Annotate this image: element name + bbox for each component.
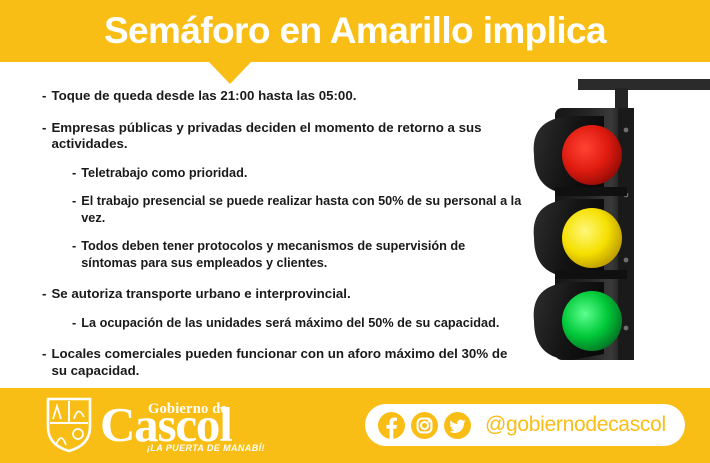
bullet-item: -La ocupación de las unidades será máxim… bbox=[72, 315, 522, 332]
red-lamp bbox=[562, 125, 622, 185]
yellow-lamp bbox=[562, 208, 622, 268]
instagram-icon[interactable] bbox=[411, 412, 438, 439]
housing-divider bbox=[555, 187, 627, 196]
bullet-text: Toque de queda desde las 21:00 hasta las… bbox=[51, 88, 522, 105]
bullet-dash: - bbox=[42, 88, 51, 105]
header-pointer-triangle bbox=[209, 62, 251, 84]
social-media-pill[interactable]: @gobiernodecascol bbox=[365, 404, 685, 446]
facebook-icon[interactable] bbox=[378, 412, 405, 439]
wordmark-sub: Gobierno de bbox=[148, 401, 227, 418]
bullet-text: El trabajo presencial se puede realizar … bbox=[81, 193, 522, 226]
bullet-dash: - bbox=[42, 286, 51, 303]
bullet-item: -Se autoriza transporte urbano e interpr… bbox=[42, 286, 522, 303]
bullet-item: -Teletrabajo como prioridad. bbox=[72, 165, 522, 182]
bullet-item: -Empresas públicas y privadas deciden el… bbox=[42, 120, 522, 153]
bolt-icon bbox=[624, 326, 629, 331]
bullet-dash: - bbox=[72, 165, 81, 182]
bullet-text: Empresas públicas y privadas deciden el … bbox=[51, 120, 522, 153]
bullet-text: Se autoriza transporte urbano e interpro… bbox=[51, 286, 522, 303]
bullet-list: -Toque de queda desde las 21:00 hasta la… bbox=[42, 88, 522, 379]
cascol-wordmark: Cascol Gobierno de ¡LA PUERTA DE MANABÍ! bbox=[100, 396, 272, 454]
government-logo: Cascol Gobierno de ¡LA PUERTA DE MANABÍ! bbox=[46, 394, 272, 456]
bolt-icon bbox=[624, 258, 629, 263]
social-handle: @gobiernodecascol bbox=[485, 413, 666, 437]
twitter-icon[interactable] bbox=[444, 412, 471, 439]
bolt-icon bbox=[624, 128, 629, 133]
green-lamp bbox=[562, 291, 622, 351]
bullet-dash: - bbox=[72, 238, 81, 271]
page-title: Semáforo en Amarillo implica bbox=[0, 0, 710, 62]
bullet-item: -El trabajo presencial se puede realizar… bbox=[72, 193, 522, 226]
wordmark-tagline: ¡LA PUERTA DE MANABÍ! bbox=[147, 443, 265, 453]
bullet-item: -Todos deben tener protocolos y mecanism… bbox=[72, 238, 522, 271]
bullet-item: -Toque de queda desde las 21:00 hasta la… bbox=[42, 88, 522, 105]
bullet-dash: - bbox=[72, 315, 81, 332]
traffic-light-image bbox=[500, 60, 710, 390]
traffic-light-svg bbox=[500, 60, 710, 390]
housing-divider bbox=[555, 270, 627, 279]
bullet-text: Todos deben tener protocolos y mecanismo… bbox=[81, 238, 522, 271]
bullet-dash: - bbox=[42, 120, 51, 153]
bullet-item: -Locales comerciales pueden funcionar co… bbox=[42, 346, 522, 379]
infographic-poster: Semáforo en Amarillo implica -Toque de q… bbox=[0, 0, 710, 463]
bullet-text: Teletrabajo como prioridad. bbox=[81, 165, 522, 182]
mast-arm bbox=[578, 79, 710, 90]
bullet-text: Locales comerciales pueden funcionar con… bbox=[51, 346, 522, 379]
cascol-shield-crest-icon bbox=[46, 397, 92, 453]
bullet-text: La ocupación de las unidades será máximo… bbox=[81, 315, 522, 332]
bullet-dash: - bbox=[72, 193, 81, 226]
bullet-dash: - bbox=[42, 346, 51, 379]
